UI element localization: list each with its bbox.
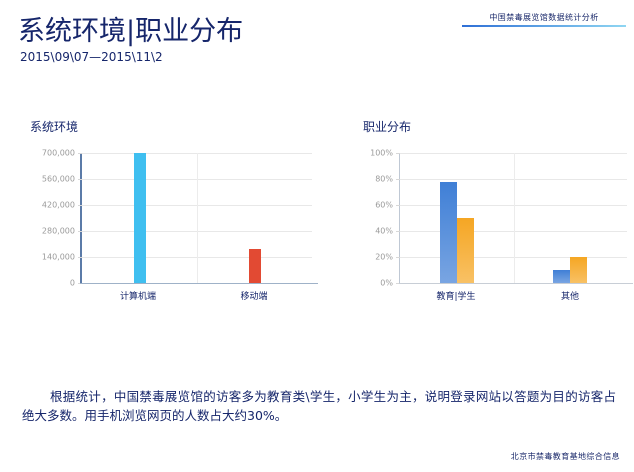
header-brand-text: 中国禁毒展览馆数据统计分析 (462, 12, 626, 23)
x-axis-category-label: 计算机端 (120, 289, 156, 302)
y-axis-tick-label: 40% (375, 227, 393, 236)
y-axis-tick-label: 700,000 (42, 149, 75, 158)
x-axis-category-label: 其他 (561, 289, 579, 302)
y-axis-tick-label: 420,000 (42, 201, 75, 210)
page-title: 系统环境|职业分布 (18, 16, 243, 48)
x-axis-category-label: 教育|学生 (436, 289, 475, 302)
bar (249, 249, 261, 283)
bar (570, 257, 587, 283)
y-axis-tick-mark (396, 205, 400, 206)
y-axis-tick-label: 280,000 (42, 227, 75, 236)
chart-panel-system-environment: 系统环境 0140,000280,000420,000560,000700,00… (22, 118, 312, 313)
y-axis-tick-mark (78, 231, 82, 232)
y-axis-tick-label: 60% (375, 201, 393, 210)
y-axis-tick-label: 560,000 (42, 175, 75, 184)
y-axis-tick-mark (396, 257, 400, 258)
footer-text: 北京市禁毒教育基地综合信息 (511, 451, 620, 462)
y-axis-tick-mark (78, 257, 82, 258)
vertical-gridline (197, 153, 198, 283)
y-axis-tick-mark (78, 153, 82, 154)
header-brand-rule (462, 25, 626, 27)
bar (440, 182, 457, 283)
y-axis-tick-mark (78, 179, 82, 180)
x-axis-labels-left: 计算机端移动端 (80, 289, 312, 305)
y-axis-tick-label: 80% (375, 175, 393, 184)
slide-canvas: 中国禁毒展览馆数据统计分析 系统环境|职业分布 2015\09\07—2015\… (0, 0, 634, 472)
vertical-gridline (514, 153, 515, 283)
x-axis-line-left (80, 283, 318, 284)
y-axis-tick-label: 0 (70, 279, 75, 288)
summary-paragraph: 根据统计，中国禁毒展览馆的访客多为教育类\学生，小学生为主，说明登录网站以答题为… (22, 387, 616, 425)
y-axis-tick-label: 0% (380, 279, 393, 288)
bar (457, 218, 474, 283)
bar (553, 270, 570, 283)
y-axis-tick-label: 100% (370, 149, 393, 158)
y-axis-tick-mark (78, 205, 82, 206)
plot-area-occupation: 0%20%40%60%80%100% (399, 153, 627, 283)
x-axis-category-label: 移动端 (240, 289, 267, 302)
chart-occupation: 0%20%40%60%80%100% 教育|学生其他 (355, 153, 627, 313)
y-axis-tick-mark (396, 179, 400, 180)
x-axis-line-right (399, 283, 633, 284)
x-axis-labels-right: 教育|学生其他 (399, 289, 627, 305)
chart-title-system-environment: 系统环境 (30, 118, 312, 135)
y-axis-tick-mark (396, 153, 400, 154)
y-axis-tick-label: 140,000 (42, 253, 75, 262)
bar (134, 153, 146, 283)
header-brand: 中国禁毒展览馆数据统计分析 (462, 12, 626, 27)
chart-panel-occupation: 职业分布 0%20%40%60%80%100% 教育|学生其他 (355, 118, 627, 313)
page-subtitle: 2015\09\07—2015\11\2 (20, 50, 163, 64)
chart-title-occupation: 职业分布 (363, 118, 627, 135)
y-axis-tick-mark (396, 231, 400, 232)
y-axis-tick-label: 20% (375, 253, 393, 262)
plot-area-system-environment: 0140,000280,000420,000560,000700,000 (80, 153, 312, 283)
chart-system-environment: 0140,000280,000420,000560,000700,000 计算机… (22, 153, 312, 313)
